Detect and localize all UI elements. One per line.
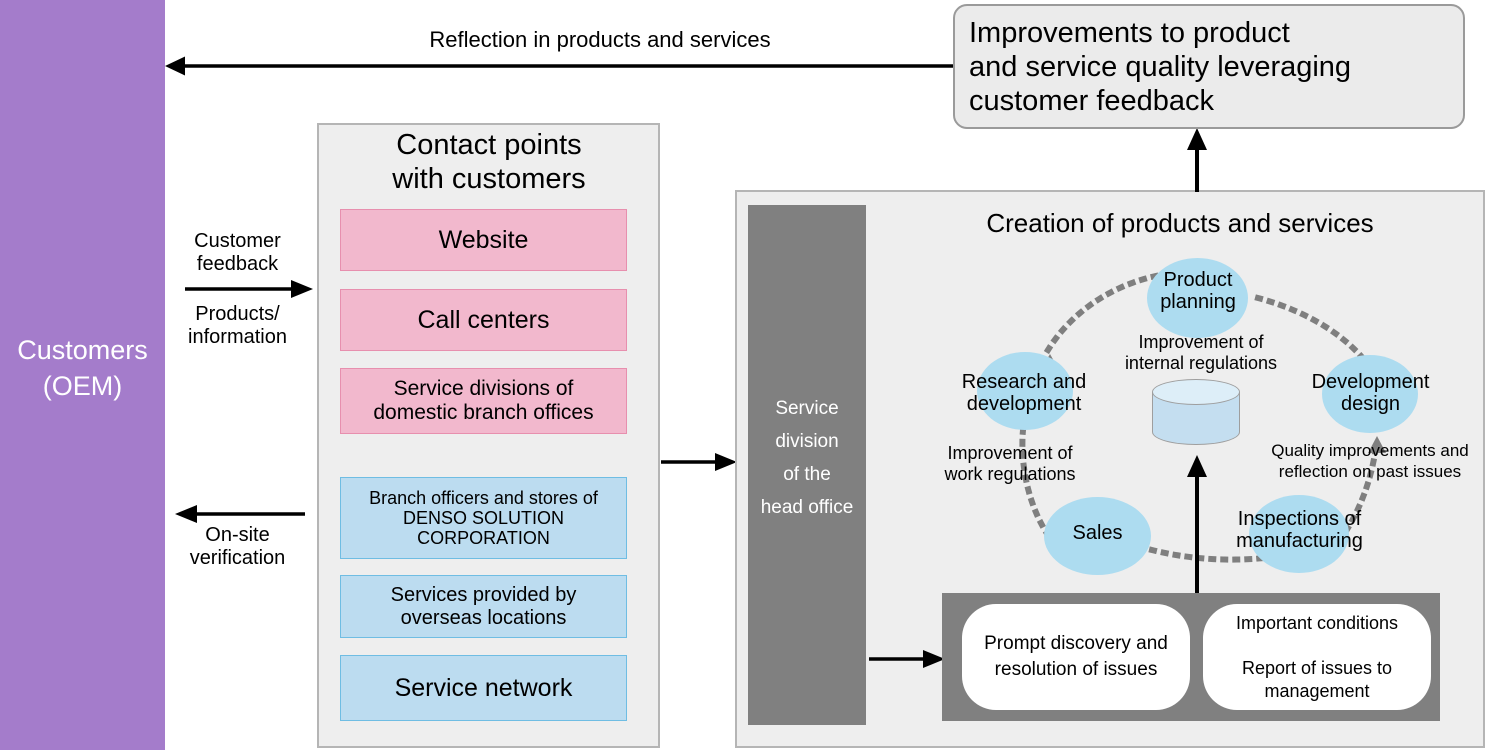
issues-pill-important-conditions[interactable]: Important conditions Report of issues to… [1203, 604, 1431, 710]
cycle-edge-label-quality-improvements: Quality improvements and reflection on p… [1250, 440, 1490, 482]
customer-feedback-arrow [185, 278, 315, 300]
customers-line2: (OEM) [0, 368, 165, 404]
issues-pill-label: Prompt discovery and resolution of issue… [984, 631, 1168, 682]
contact-item-call-centers[interactable]: Call centers [340, 289, 627, 351]
cycle-node-development-design-label: Development design [1288, 371, 1453, 415]
cycle-edge-label-internal-regulations: Improvement of internal regulations [1106, 332, 1296, 374]
contact-item-label: Call centers [418, 306, 550, 334]
contact-item-service-network[interactable]: Service network [340, 655, 627, 721]
issues-pill-label: Important conditions Report of issues to… [1236, 612, 1398, 702]
contact-points-title: Contact points with customers [330, 128, 648, 196]
improvements-box: Improvements to product and service qual… [953, 4, 1465, 129]
contact-item-label: Services provided by overseas locations [391, 584, 577, 629]
on-site-verification-label: On-site verification [170, 524, 305, 570]
contact-item-label: Branch officers and stores of DENSO SOLU… [369, 488, 598, 548]
contact-to-service-arrow [661, 451, 739, 473]
contact-item-overseas-locations[interactable]: Services provided by overseas locations [340, 575, 627, 638]
contact-item-label: Website [439, 226, 529, 254]
contact-item-label: Service network [395, 674, 573, 702]
cycle-edge-label-work-regulations: Improvement of work regulations [915, 443, 1105, 485]
issues-to-cycle-arrow [1180, 455, 1214, 595]
cycle-node-research-development-label: Research and development [935, 371, 1113, 415]
service-to-issues-arrow [869, 648, 947, 670]
cycle-node-product-planning-label: Product planning [1133, 269, 1263, 313]
contact-item-label: Service divisions of domestic branch off… [373, 377, 593, 424]
contact-item-website[interactable]: Website [340, 209, 627, 271]
customers-line1: Customers [0, 332, 165, 368]
service-division-head-office-label: Service division of the head office [748, 392, 866, 524]
creation-title: Creation of products and services [880, 208, 1480, 239]
contact-item-service-divisions[interactable]: Service divisions of domestic branch off… [340, 368, 627, 434]
creation-to-improvements-arrow [1180, 128, 1214, 192]
database-cylinder-top [1152, 379, 1240, 405]
cycle-node-sales-label: Sales [1044, 522, 1151, 544]
reflection-arrow-label: Reflection in products and services [330, 28, 870, 51]
improvements-box-label: Improvements to product and service qual… [969, 17, 1351, 117]
customer-feedback-label: Customer feedback [175, 230, 300, 276]
on-site-verification-arrow [175, 503, 305, 525]
products-information-label: Products/ information [175, 303, 300, 349]
customers-label: Customers (OEM) [0, 332, 165, 404]
cycle-node-inspections-manufacturing-label: Inspections of manufacturing [1207, 508, 1392, 552]
contact-item-denso-solution[interactable]: Branch officers and stores of DENSO SOLU… [340, 477, 627, 559]
issues-pill-prompt-discovery[interactable]: Prompt discovery and resolution of issue… [962, 604, 1190, 710]
